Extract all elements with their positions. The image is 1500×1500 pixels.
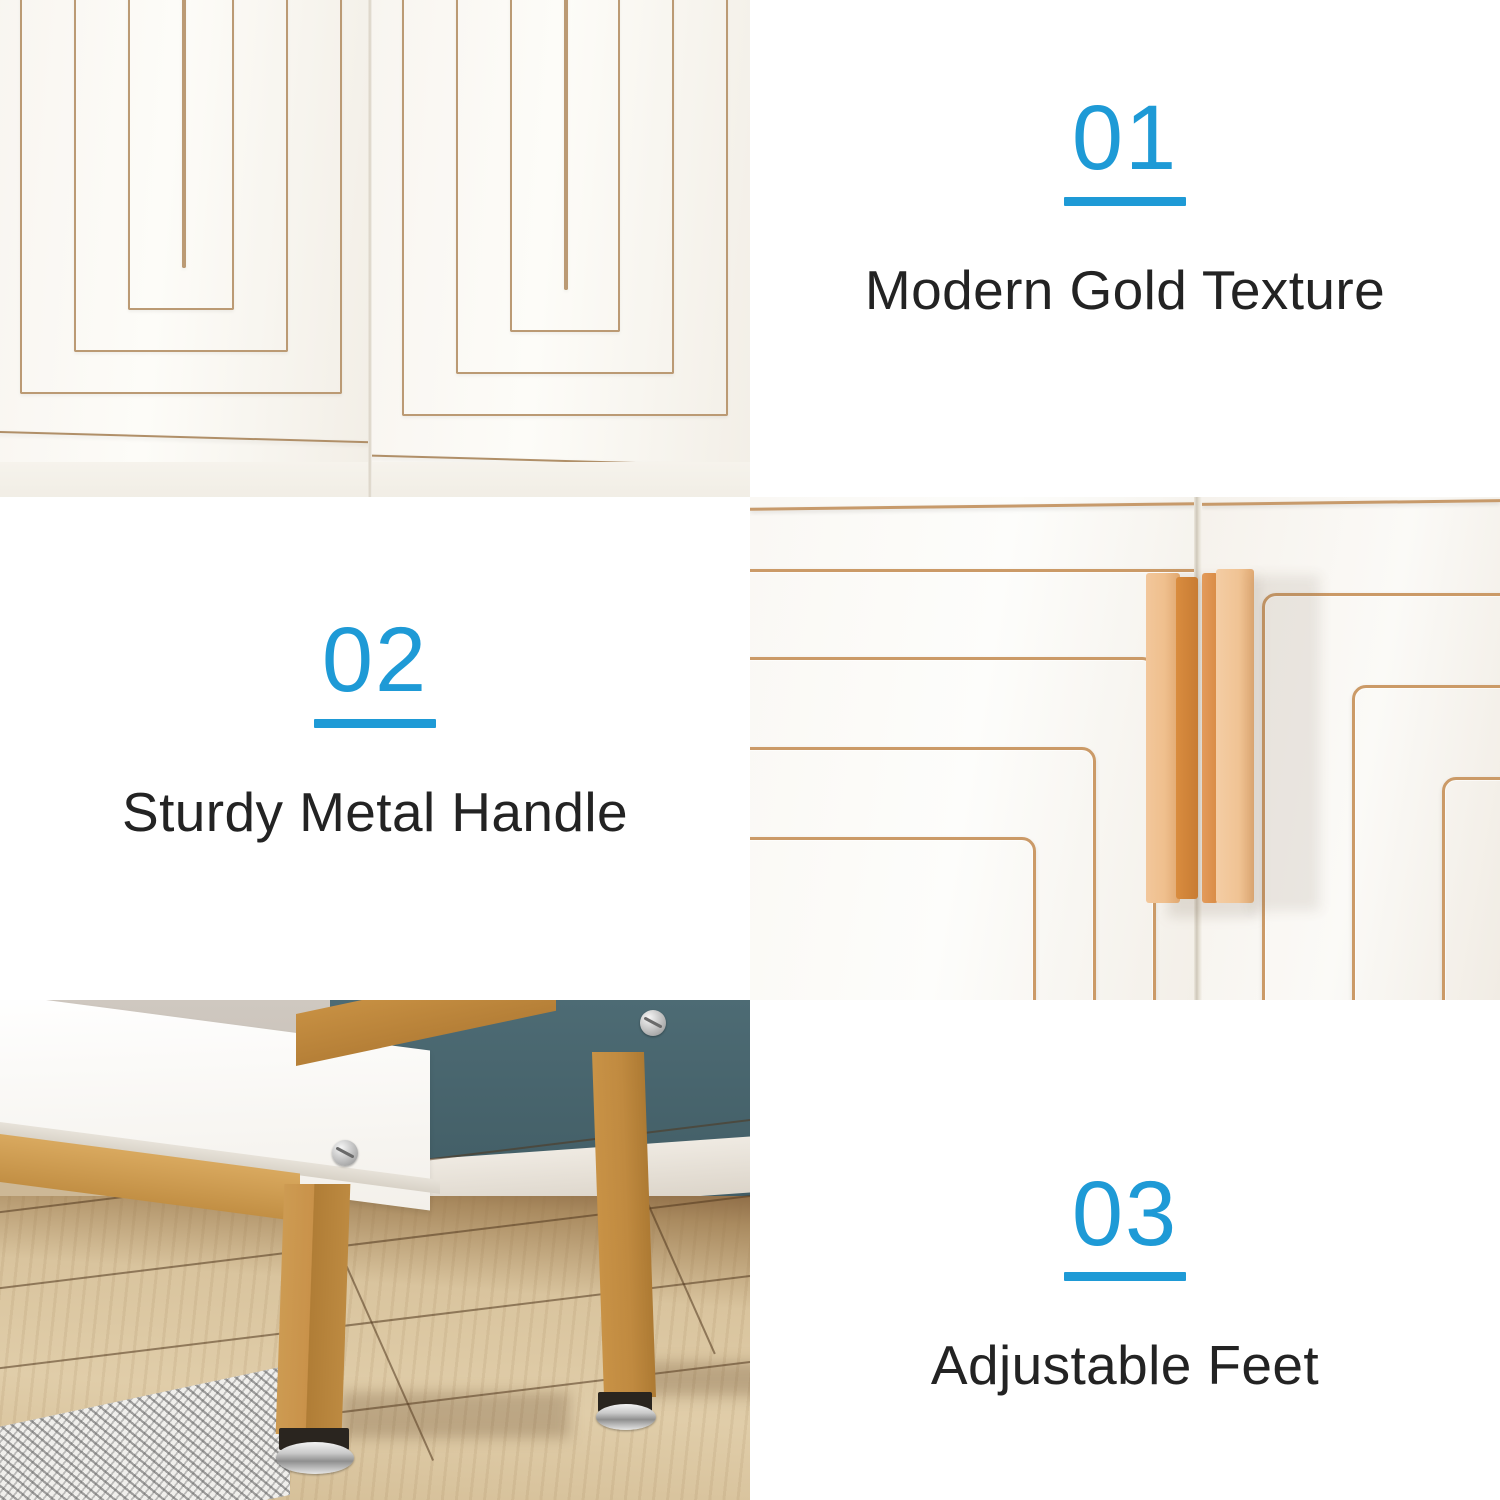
feature-card-02: 02 Sturdy Metal Handle — [0, 497, 750, 1000]
leg-screw-back — [640, 1010, 666, 1036]
feature-card-03: 03 Adjustable Feet — [750, 1000, 1500, 1500]
handle-door-left — [750, 497, 1196, 1000]
feature-title-03: Adjustable Feet — [931, 1333, 1319, 1397]
feature-number-03: 03 — [1072, 1171, 1178, 1258]
handle-bar-left[interactable] — [1146, 573, 1180, 903]
adjustable-foot-back — [596, 1404, 656, 1430]
photo-metal-handle — [750, 497, 1500, 1000]
feature-number-01: 01 — [1072, 95, 1178, 182]
feature-card-01: 01 Modern Gold Texture — [750, 0, 1500, 497]
feature-collage: 01 Modern Gold Texture 02 Sturdy Metal H… — [0, 0, 1500, 1500]
leg-screw-front — [332, 1140, 358, 1166]
cabinet-leg-front — [276, 1184, 351, 1434]
feature-number-02: 02 — [322, 617, 428, 704]
cabinet-door-left — [0, 0, 370, 497]
door-seam — [368, 0, 372, 497]
feature-title-02: Sturdy Metal Handle — [122, 780, 628, 844]
cabinet-door-right — [372, 0, 750, 497]
adjustable-foot-front — [276, 1442, 354, 1474]
feature-number-underline-01 — [1064, 197, 1186, 206]
feature-title-01: Modern Gold Texture — [865, 258, 1385, 322]
photo-gold-texture — [0, 0, 750, 497]
feature-number-underline-03 — [1064, 1272, 1186, 1281]
feature-number-underline-02 — [314, 719, 436, 728]
handle-bar-right[interactable] — [1216, 569, 1254, 903]
photo-adjustable-feet — [0, 1000, 750, 1500]
handle-bar-left-edge — [1176, 577, 1198, 899]
